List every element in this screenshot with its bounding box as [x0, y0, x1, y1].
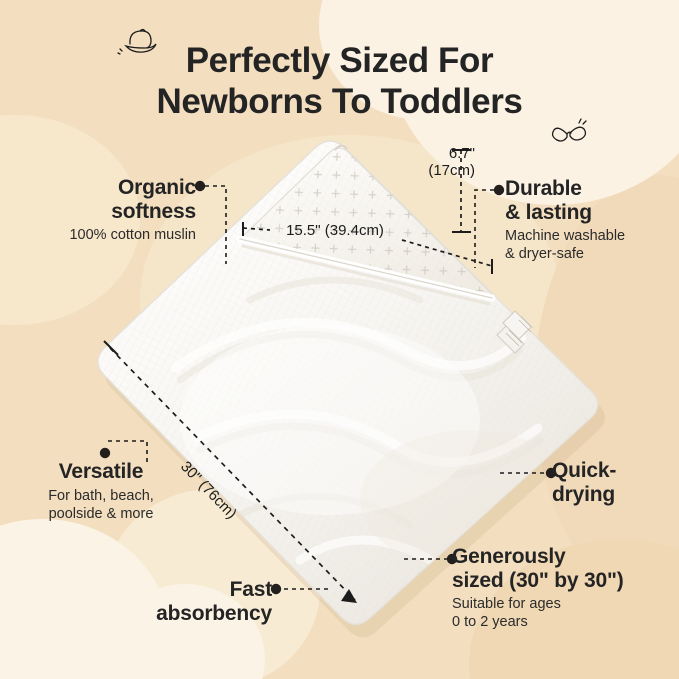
fast-heading-1: Fast — [230, 578, 272, 601]
annotation-generously-sized: Generously sized (30" by 30") Suitable f… — [452, 545, 670, 631]
versatile-heading: Versatile — [8, 460, 194, 484]
durable-subtext-1: Machine washable — [505, 228, 625, 244]
quick-heading-2: drying — [552, 483, 615, 506]
generously-subtext-2: 0 to 2 years — [452, 614, 528, 630]
generously-heading-1: Generously — [452, 545, 566, 568]
dot-durable — [494, 185, 504, 195]
annotation-versatile: Versatile For bath, beach, poolside & mo… — [8, 460, 194, 523]
annotation-durable-lasting: Durable & lasting Machine washable & dry… — [505, 177, 675, 263]
generously-heading-2: sized (30" by 30") — [452, 569, 624, 592]
dimension-hood-width-label: 15.5" (39.4cm) — [265, 222, 405, 239]
quick-heading-1: Quick- — [552, 459, 616, 482]
title-line-1: Perfectly Sized For — [186, 41, 494, 80]
leader-durable — [475, 190, 494, 268]
baby-hat-doodle — [114, 22, 158, 62]
dot-fast — [271, 584, 281, 594]
durable-heading-1: Durable — [505, 177, 582, 200]
durable-heading-2: & lasting — [505, 201, 592, 224]
annotation-organic-softness: Organic softness 100% cotton muslin — [10, 176, 196, 244]
dimension-hood-height-label: 6.7" (17cm) — [403, 145, 475, 180]
versatile-subtext-1: For bath, beach, — [48, 488, 154, 504]
dot-organic — [195, 181, 205, 191]
fast-heading-2: absorbency — [156, 602, 272, 625]
bow-ribbon-doodle — [546, 110, 592, 154]
durable-subtext-2: & dryer-safe — [505, 246, 584, 262]
versatile-subtext-2: poolside & more — [49, 506, 154, 522]
generously-subtext-1: Suitable for ages — [452, 596, 561, 612]
organic-heading-1: Organic — [118, 176, 196, 199]
dot-versatile — [100, 448, 110, 458]
infographic-canvas: Perfectly Sized For Newborns To Toddlers… — [0, 0, 679, 679]
annotation-fast-absorbency: Fast absorbency — [40, 578, 272, 625]
organic-subtext: 100% cotton muslin — [10, 226, 196, 244]
organic-heading-2: softness — [111, 200, 196, 223]
annotation-quick-drying: Quick- drying — [552, 459, 672, 506]
